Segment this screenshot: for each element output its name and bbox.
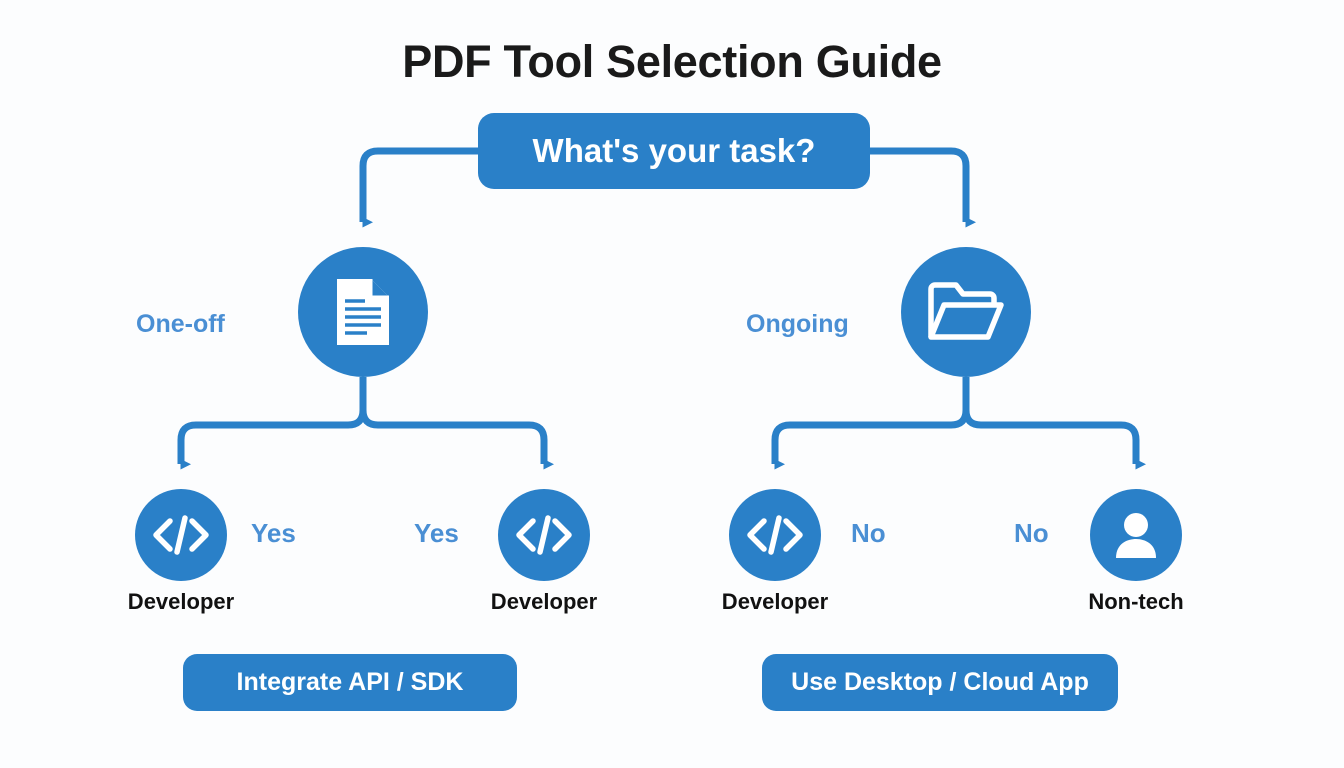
node-one-off[interactable] (298, 247, 428, 377)
node-developer-left-2[interactable] (498, 489, 590, 581)
caption-developer-right: Developer (722, 589, 828, 615)
caption-non-tech: Non-tech (1088, 589, 1183, 615)
node-ongoing[interactable] (901, 247, 1031, 377)
answer-label-yes-1: Yes (251, 518, 296, 549)
result-box-integrate-api[interactable]: Integrate API / SDK (183, 654, 517, 711)
branch-label-one-off: One-off (136, 310, 225, 339)
user-icon (1112, 510, 1160, 560)
answer-label-no-1: No (851, 518, 886, 549)
wire-oneoff-to-dev-left (181, 377, 363, 464)
wire-question-to-oneoff (363, 151, 478, 222)
wire-oneoff-to-dev-left2 (363, 377, 544, 464)
node-non-tech[interactable] (1090, 489, 1182, 581)
result-box-desktop-cloud[interactable]: Use Desktop / Cloud App (762, 654, 1118, 711)
node-developer-right[interactable] (729, 489, 821, 581)
document-icon (333, 277, 393, 347)
code-icon (515, 514, 573, 556)
caption-developer-left: Developer (128, 589, 234, 615)
caption-developer-left-2: Developer (491, 589, 597, 615)
page-title: PDF Tool Selection Guide (0, 36, 1344, 88)
code-icon (746, 514, 804, 556)
folder-icon (928, 281, 1004, 343)
flowchart-canvas: PDF Tool Selection Guide What's your tas… (0, 0, 1344, 768)
branch-label-ongoing: Ongoing (746, 310, 849, 339)
question-box[interactable]: What's your task? (478, 113, 870, 189)
code-icon (152, 514, 210, 556)
node-developer-left[interactable] (135, 489, 227, 581)
wire-question-to-ongoing (870, 151, 966, 222)
answer-label-yes-2: Yes (414, 518, 459, 549)
wire-ongoing-to-dev-right (775, 377, 966, 464)
wire-ongoing-to-nontech (966, 377, 1136, 464)
answer-label-no-2: No (1014, 518, 1049, 549)
